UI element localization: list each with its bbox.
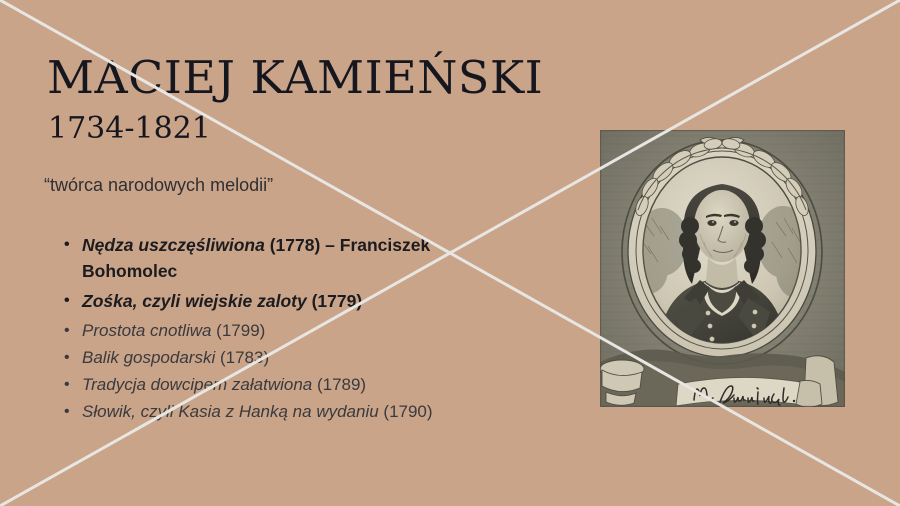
presentation-slide: MACIEJ KAMIEŃSKI 1734-1821 “twórca narod…	[0, 0, 900, 506]
list-item: Tradycja dowcipem załatwiona (1789)	[60, 372, 530, 397]
work-meta: (1790)	[379, 402, 433, 421]
work-title: Słowik, czyli Kasia z Hanką na wydaniu	[82, 402, 379, 421]
text-column: MACIEJ KAMIEŃSKI 1734-1821 “twórca narod…	[0, 0, 560, 506]
work-meta: (1783)	[215, 348, 269, 367]
works-list: Nędza uszczęśliwiona (1778) – Franciszek…	[60, 232, 530, 426]
work-meta: (1789)	[312, 375, 366, 394]
work-meta: (1799)	[211, 321, 265, 340]
work-title: Tradycja dowcipem załatwiona	[82, 375, 312, 394]
list-item: Zośka, czyli wiejskie zaloty (1779)	[60, 288, 530, 314]
date-range: 1734-1821	[48, 111, 211, 147]
list-item: Balik gospodarski (1783)	[60, 345, 530, 370]
work-title: Zośka, czyli wiejskie zaloty	[82, 291, 307, 311]
list-item: Prostota cnotliwa (1799)	[60, 318, 530, 343]
portrait-image	[600, 130, 845, 407]
list-item: Słowik, czyli Kasia z Hanką na wydaniu (…	[60, 399, 530, 424]
work-meta: (1779)	[307, 291, 362, 311]
page-title: MACIEJ KAMIEŃSKI	[47, 52, 543, 104]
work-title: Prostota cnotliwa	[82, 321, 211, 340]
work-title: Nędza uszczęśliwiona	[82, 235, 265, 255]
quote-text: “twórca narodowych melodii”	[44, 172, 273, 198]
work-title: Balik gospodarski	[82, 348, 215, 367]
list-item: Nędza uszczęśliwiona (1778) – Franciszek…	[60, 232, 530, 284]
